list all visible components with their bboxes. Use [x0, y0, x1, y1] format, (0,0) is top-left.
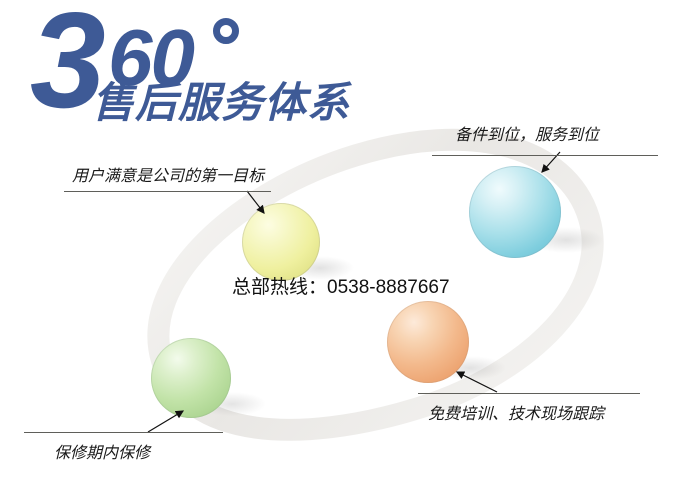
title-subtitle: 售后服务体系	[92, 82, 350, 124]
callout-satisfaction-rule	[64, 191, 271, 192]
callout-training-label: 免费培训、技术现场跟踪	[428, 400, 604, 424]
degree-symbol-icon	[213, 18, 239, 44]
callout-warranty-rule	[24, 432, 223, 433]
poster-title-block: 3 60 售后服务体系	[0, 0, 370, 140]
callout-satisfaction-label: 用户满意是公司的第一目标	[72, 162, 264, 186]
title-number-main: 3	[30, 0, 102, 128]
sphere-orange	[387, 301, 469, 383]
callout-parts-rule	[432, 155, 658, 156]
sphere-blue	[469, 166, 561, 258]
callout-training-rule	[418, 393, 640, 394]
callout-parts-label: 备件到位，服务到位	[455, 121, 599, 145]
sphere-green	[151, 338, 231, 418]
leader-training	[457, 372, 497, 392]
hotline-text: 总部热线：0538-8887667	[232, 272, 450, 299]
poster-canvas: 3 60 售后服务体系 用户满意是公司的第一目标 备件到位，服务到位 免费培训、…	[0, 0, 700, 480]
callout-warranty-label: 保修期内保修	[54, 439, 150, 463]
sphere-yellow	[242, 203, 320, 281]
